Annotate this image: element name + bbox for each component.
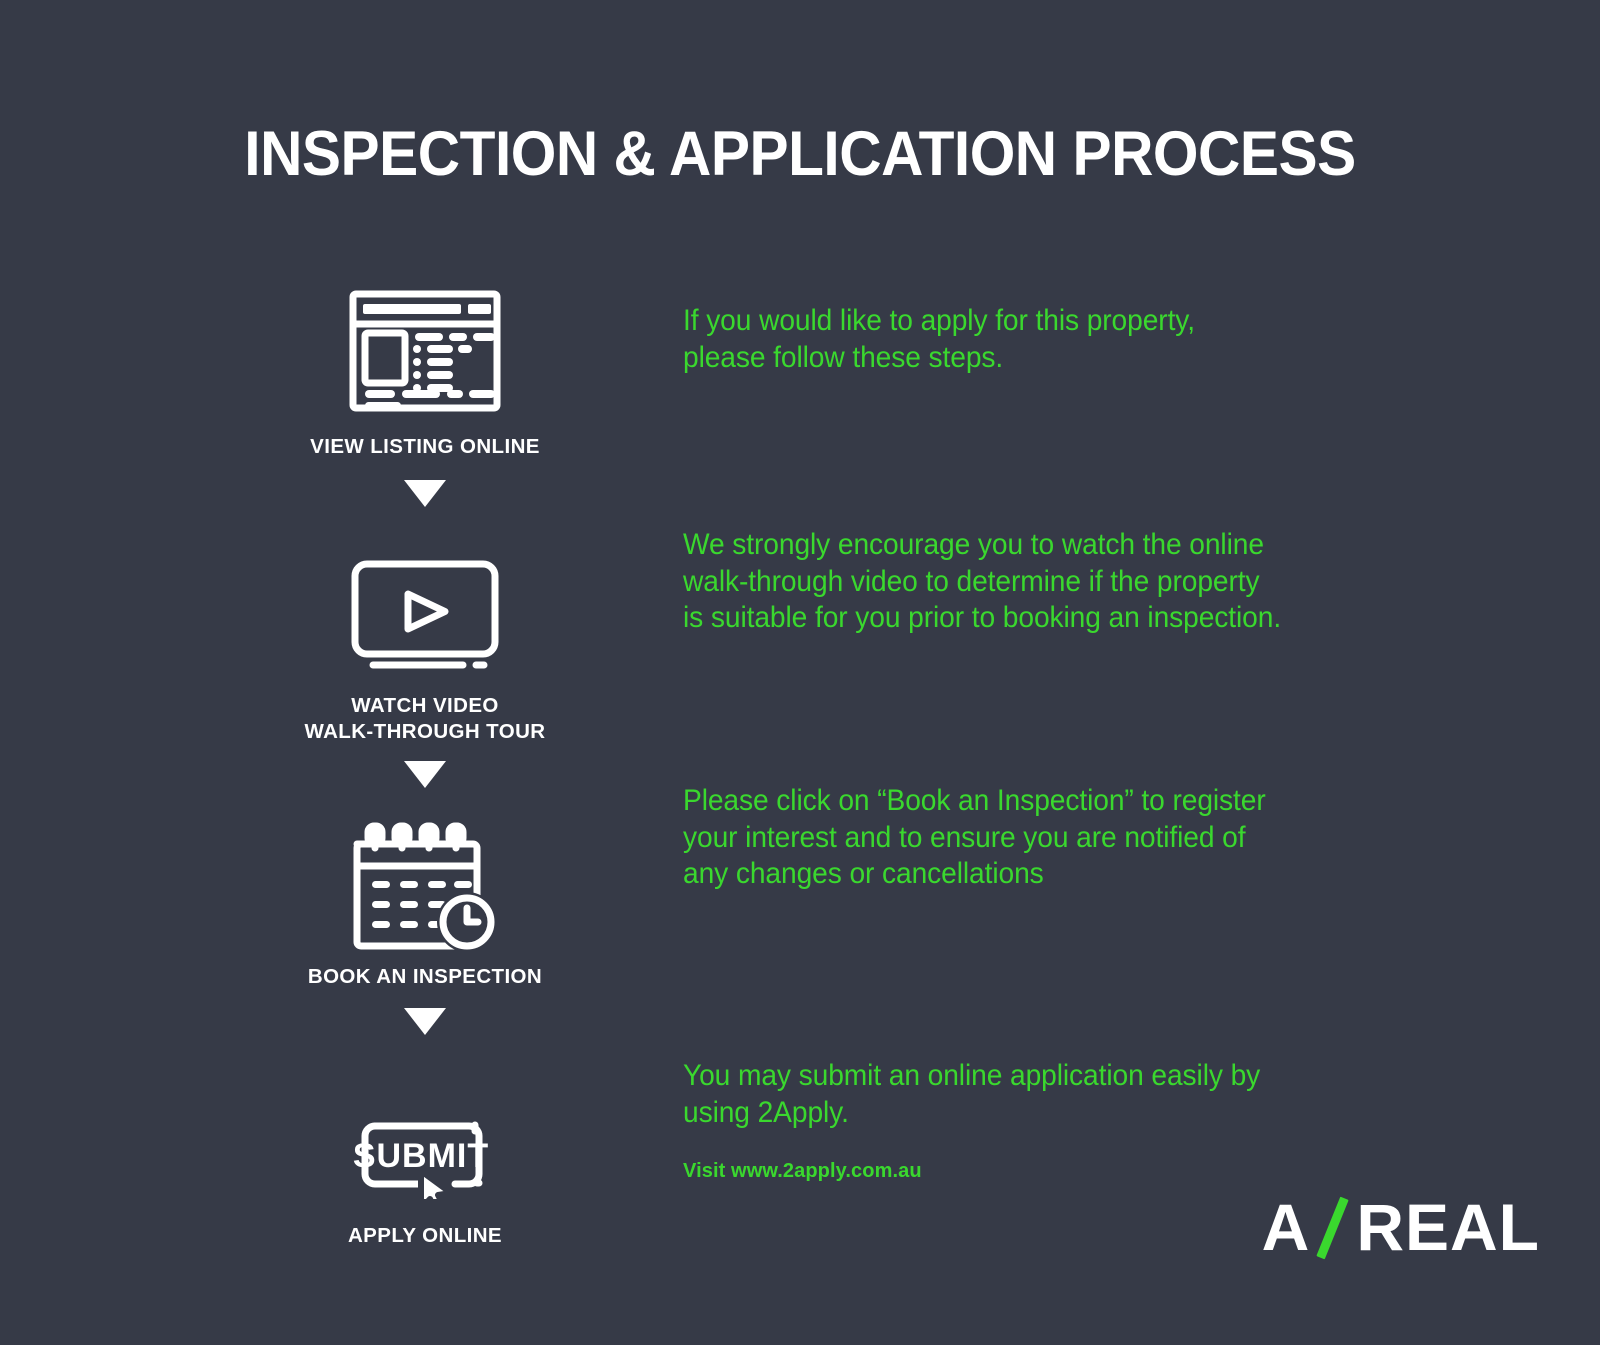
step-label-apply-online: APPLY ONLINE	[275, 1223, 575, 1249]
submit-button-cursor-icon: SUBMIT	[275, 1049, 575, 1199]
copy-block-apply-online: You may submit an online application eas…	[683, 1058, 1443, 1131]
areal-logo: A REAL	[1262, 1196, 1540, 1258]
step-book-inspection: BOOK AN INSPECTION	[275, 800, 575, 990]
video-play-icon	[275, 521, 575, 671]
copy-block-book-inspection: Please click on “Book an Inspection” to …	[683, 783, 1443, 893]
logo-letter-a: A	[1262, 1196, 1311, 1258]
step-label-view-listing-online: VIEW LISTING ONLINE	[275, 434, 575, 460]
copy-text-3: Please click on “Book an Inspection” to …	[683, 783, 1409, 893]
down-triangle-arrow-icon	[275, 480, 575, 507]
down-triangle-arrow-icon	[275, 1008, 575, 1035]
copy-text-1: If you would like to apply for this prop…	[683, 303, 1409, 376]
step-label-watch-video: WATCH VIDEO WALK-THROUGH TOUR	[275, 693, 575, 745]
down-triangle-arrow-icon	[275, 761, 575, 788]
page-title: INSPECTION & APPLICATION PROCESS	[56, 118, 1544, 190]
step-view-listing-online: VIEW LISTING ONLINE	[275, 262, 575, 460]
listing-window-icon	[275, 262, 575, 412]
green-slash-icon	[1313, 1196, 1353, 1258]
copy-text-4: You may submit an online application eas…	[683, 1058, 1409, 1131]
calendar-clock-icon	[275, 800, 575, 950]
visit-2apply-link[interactable]: Visit www.2apply.com.au	[683, 1160, 922, 1183]
infographic-page: INSPECTION & APPLICATION PROCESS	[0, 0, 1600, 1345]
copy-text-2: We strongly encourage you to watch the o…	[683, 527, 1409, 637]
process-flow-column: VIEW LISTING ONLINE WATCH VIDEO WALK-THR…	[275, 262, 575, 1249]
step-watch-video: WATCH VIDEO WALK-THROUGH TOUR	[275, 521, 575, 745]
step-apply-online: SUBMIT APPLY ONLINE	[275, 1049, 575, 1249]
copy-block-watch-video: We strongly encourage you to watch the o…	[683, 527, 1443, 637]
logo-word-real: REAL	[1356, 1196, 1540, 1258]
step-label-book-inspection: BOOK AN INSPECTION	[275, 964, 575, 990]
copy-block-view-listing: If you would like to apply for this prop…	[683, 303, 1443, 376]
